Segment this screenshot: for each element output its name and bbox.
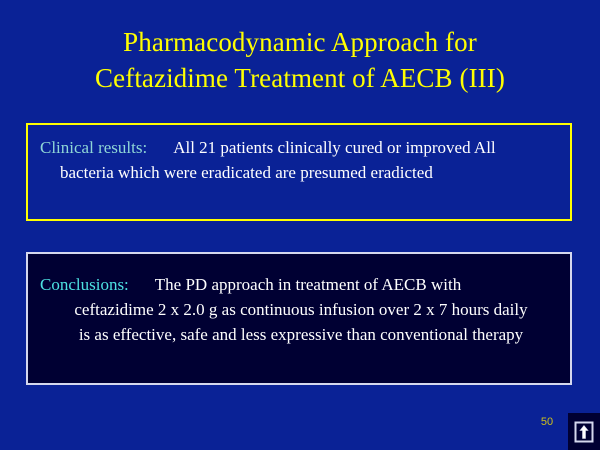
conclusions-line-1: Conclusions:The PD approach in treatment… (40, 272, 562, 297)
clinical-results-line-2: bacteria which were eradicated are presu… (40, 160, 560, 185)
page-title-line-1: Pharmacodynamic Approach for (0, 24, 600, 60)
conclusions-line-1-text: The PD approach in treatment of AECB wit… (155, 275, 461, 294)
conclusions-line-2: ceftazidime 2 x 2.0 g as continuous infu… (40, 297, 562, 322)
clinical-results-line-1-text: All 21 patients clinically cured or impr… (173, 138, 495, 157)
clinical-results-label: Clinical results: (40, 138, 147, 157)
conclusions-box: Conclusions:The PD approach in treatment… (26, 252, 572, 385)
conclusions-label: Conclusions: (40, 275, 129, 294)
conclusions-line-3: is as effective, safe and less expressiv… (40, 322, 562, 347)
page-up-icon (574, 421, 594, 443)
page-number: 50 (534, 416, 560, 428)
conclusions-text: Conclusions:The PD approach in treatment… (28, 254, 570, 347)
clinical-results-text: Clinical results:All 21 patients clinica… (28, 125, 570, 185)
page-up-button[interactable] (568, 413, 600, 450)
clinical-results-line-1: Clinical results:All 21 patients clinica… (40, 135, 560, 160)
page-title: Pharmacodynamic Approach for Ceftazidime… (0, 24, 600, 96)
clinical-results-box: Clinical results:All 21 patients clinica… (26, 123, 572, 221)
page-title-line-2: Ceftazidime Treatment of AECB (III) (0, 60, 600, 96)
